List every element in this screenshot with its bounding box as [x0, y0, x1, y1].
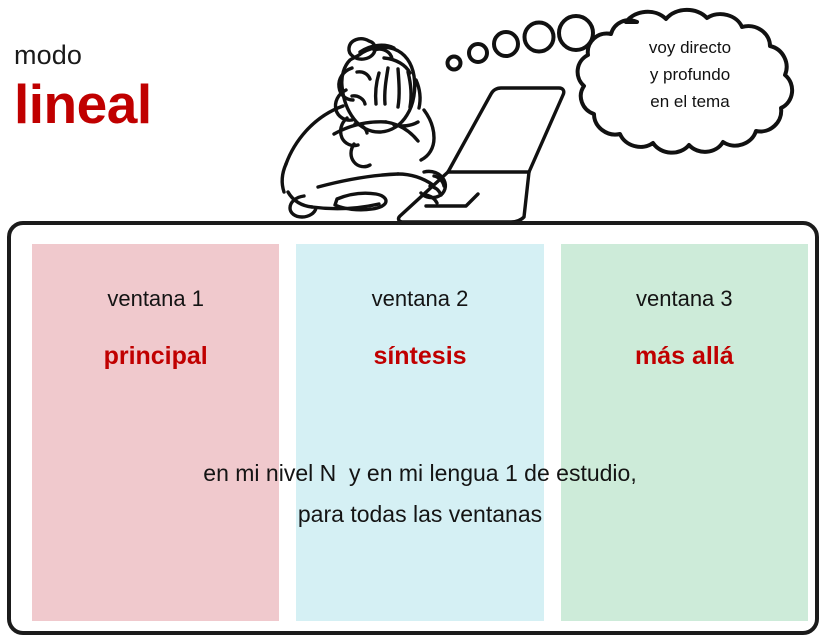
thought-bubble-line-2: y profundo [580, 61, 800, 88]
window-panel-1[interactable]: ventana 1 principal [32, 244, 279, 621]
window-panel-3[interactable]: ventana 3 más allá [561, 244, 808, 621]
thought-dot-3 [494, 32, 518, 56]
thought-bubble: voy directo y profundo en el tema [430, 6, 826, 166]
window-label-1: ventana 1 [32, 286, 279, 312]
window-title-1: principal [32, 341, 279, 371]
thought-dot-4 [525, 23, 554, 52]
windows-row: ventana 1 principal ventana 2 síntesis v… [32, 244, 808, 621]
thought-bubble-line-1: voy directo [580, 34, 800, 61]
thought-dot-2 [469, 44, 487, 62]
thought-bubble-line-3: en el tema [580, 88, 800, 115]
window-label-2: ventana 2 [296, 286, 543, 312]
page-title: lineal [14, 74, 254, 134]
window-title-3: más allá [561, 341, 808, 371]
window-title-2: síntesis [296, 341, 543, 371]
window-label-3: ventana 3 [561, 286, 808, 312]
diagram-canvas: modo lineal [0, 0, 826, 644]
window-panel-2[interactable]: ventana 2 síntesis [296, 244, 543, 621]
title-block: modo lineal [14, 38, 254, 134]
thought-dot-1 [448, 57, 461, 70]
windows-frame: ventana 1 principal ventana 2 síntesis v… [7, 221, 819, 635]
thought-bubble-text: voy directo y profundo en el tema [580, 34, 800, 115]
page-title-kicker: modo [14, 38, 254, 72]
